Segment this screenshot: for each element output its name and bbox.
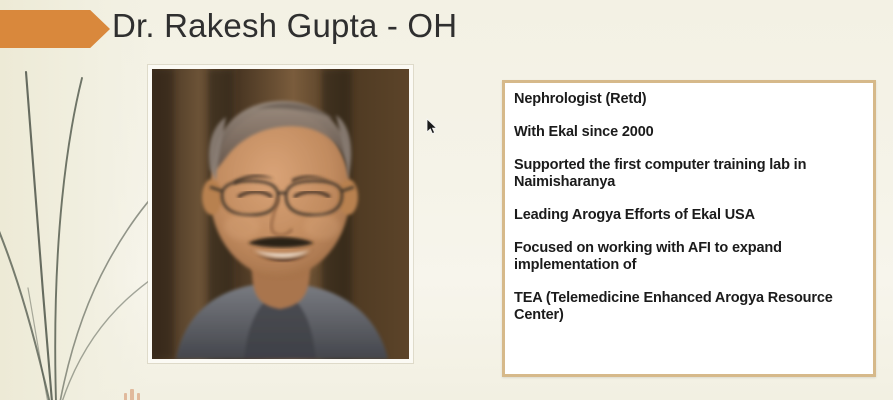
- page-title: Dr. Rakesh Gupta - OH: [112, 3, 457, 49]
- bio-line: Nephrologist (Retd): [514, 91, 864, 108]
- bio-line: TEA (Telemedicine Enhanced Arogya Resour…: [514, 290, 864, 324]
- bio-text-box: Nephrologist (Retd) With Ekal since 2000…: [502, 80, 876, 377]
- bio-line: Focused on working with AFI to expand im…: [514, 240, 864, 274]
- slide-background-left-wash: [0, 0, 150, 400]
- bio-line: With Ekal since 2000: [514, 124, 864, 141]
- bio-line: Supported the first computer training la…: [514, 157, 864, 191]
- mouse-pointer-icon: [426, 118, 438, 136]
- portrait-photo-frame: [148, 65, 413, 363]
- chevron-right-banner-icon: [0, 10, 110, 48]
- decorative-mark-icon: [122, 388, 144, 400]
- bio-line: Leading Arogya Efforts of Ekal USA: [514, 207, 864, 224]
- presentation-slide: Dr. Rakesh Gupta - OH: [0, 0, 893, 400]
- portrait-photo: [152, 69, 409, 359]
